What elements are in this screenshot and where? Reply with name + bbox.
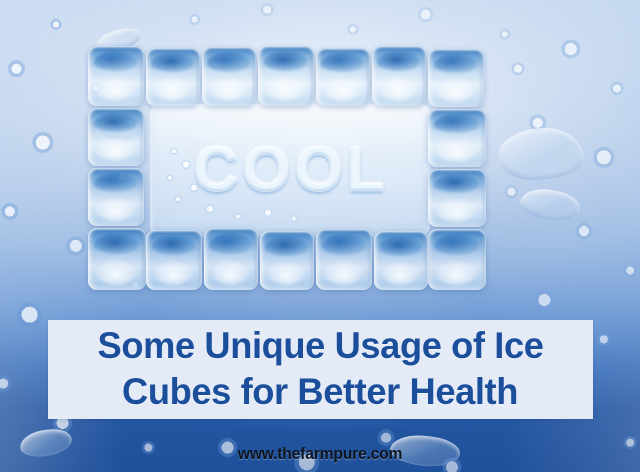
- water-smear-droplet: [498, 128, 584, 180]
- title-banner: Some Unique Usage of Ice Cubes for Bette…: [48, 320, 593, 419]
- ice-cube: [316, 48, 370, 106]
- ice-cube: [428, 49, 484, 107]
- ice-cube: [88, 228, 146, 290]
- ice-cube-frame: C O O L: [88, 46, 488, 292]
- title-line-1: Some Unique Usage of Ice: [98, 323, 544, 369]
- ice-cube: [204, 228, 258, 290]
- ice-cube: [88, 168, 144, 226]
- ice-cube: [258, 46, 314, 106]
- ice-cube: [374, 231, 428, 290]
- watermark-url: www.thefarmpure.com: [26, 444, 615, 464]
- ice-cube: [88, 46, 144, 106]
- ice-cube: [260, 231, 314, 290]
- ice-cube: [428, 229, 486, 290]
- poster-image: C O O L Some Unique Usage of Ice Cubes f: [0, 0, 640, 472]
- title-line-2: Cubes for Better Health: [123, 369, 519, 415]
- ice-cube: [428, 169, 486, 227]
- ice-cube: [372, 46, 426, 106]
- ice-cube: [146, 230, 202, 290]
- ice-cube: [146, 48, 200, 106]
- ice-cube: [88, 108, 144, 166]
- ice-cube: [316, 229, 372, 290]
- ice-cube: [428, 109, 486, 167]
- bubble-cluster: [158, 132, 358, 228]
- ice-cube: [202, 47, 256, 106]
